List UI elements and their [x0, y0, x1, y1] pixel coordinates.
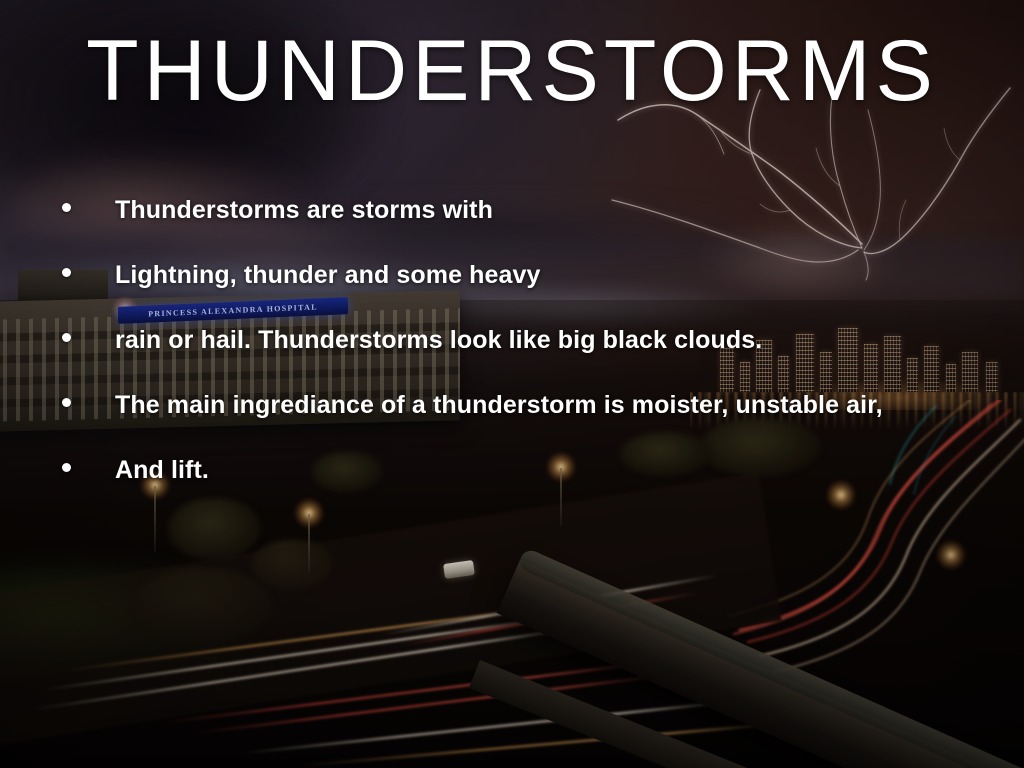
bullet-dot-icon [62, 268, 71, 277]
list-item: And lift. [62, 456, 1014, 521]
bullet-text: Lightning, thunder and some heavy [115, 261, 541, 290]
light-trail [301, 719, 819, 766]
street-lamp-glow [936, 540, 966, 570]
bullet-dot-icon [62, 463, 71, 472]
page-title: THUNDERSTORMS [0, 28, 1024, 114]
list-item: Thunderstorms are storms with [62, 196, 1014, 261]
overpass-lower-deck [469, 660, 1024, 768]
light-trail [192, 672, 689, 735]
bullet-text: And lift. [115, 456, 209, 485]
street-lamp-pole [308, 514, 310, 574]
tree [252, 540, 332, 590]
overpass-tube-canopy [517, 547, 1024, 768]
bullet-text: rain or hail. Thunderstorms look like bi… [115, 326, 762, 355]
bullet-list: Thunderstorms are storms with Lightning,… [62, 196, 1014, 521]
list-item: rain or hail. Thunderstorms look like bi… [62, 326, 1014, 391]
bullet-text: The main ingrediance of a thunderstorm i… [115, 391, 883, 420]
presentation-slide: PRINCESS ALEXANDRA HOSPITAL [0, 0, 1024, 768]
bullet-dot-icon [62, 203, 71, 212]
overpass-walkway [496, 560, 1024, 768]
bullet-dot-icon [62, 398, 71, 407]
light-trail [33, 620, 627, 711]
list-item: The main ingrediance of a thunderstorm i… [62, 391, 1014, 456]
parked-van [443, 560, 475, 579]
bullet-text: Thunderstorms are storms with [115, 196, 493, 225]
bullet-dot-icon [62, 333, 71, 342]
light-trail [382, 574, 717, 635]
list-item: Lightning, thunder and some heavy [62, 261, 1014, 326]
tree [132, 568, 272, 644]
